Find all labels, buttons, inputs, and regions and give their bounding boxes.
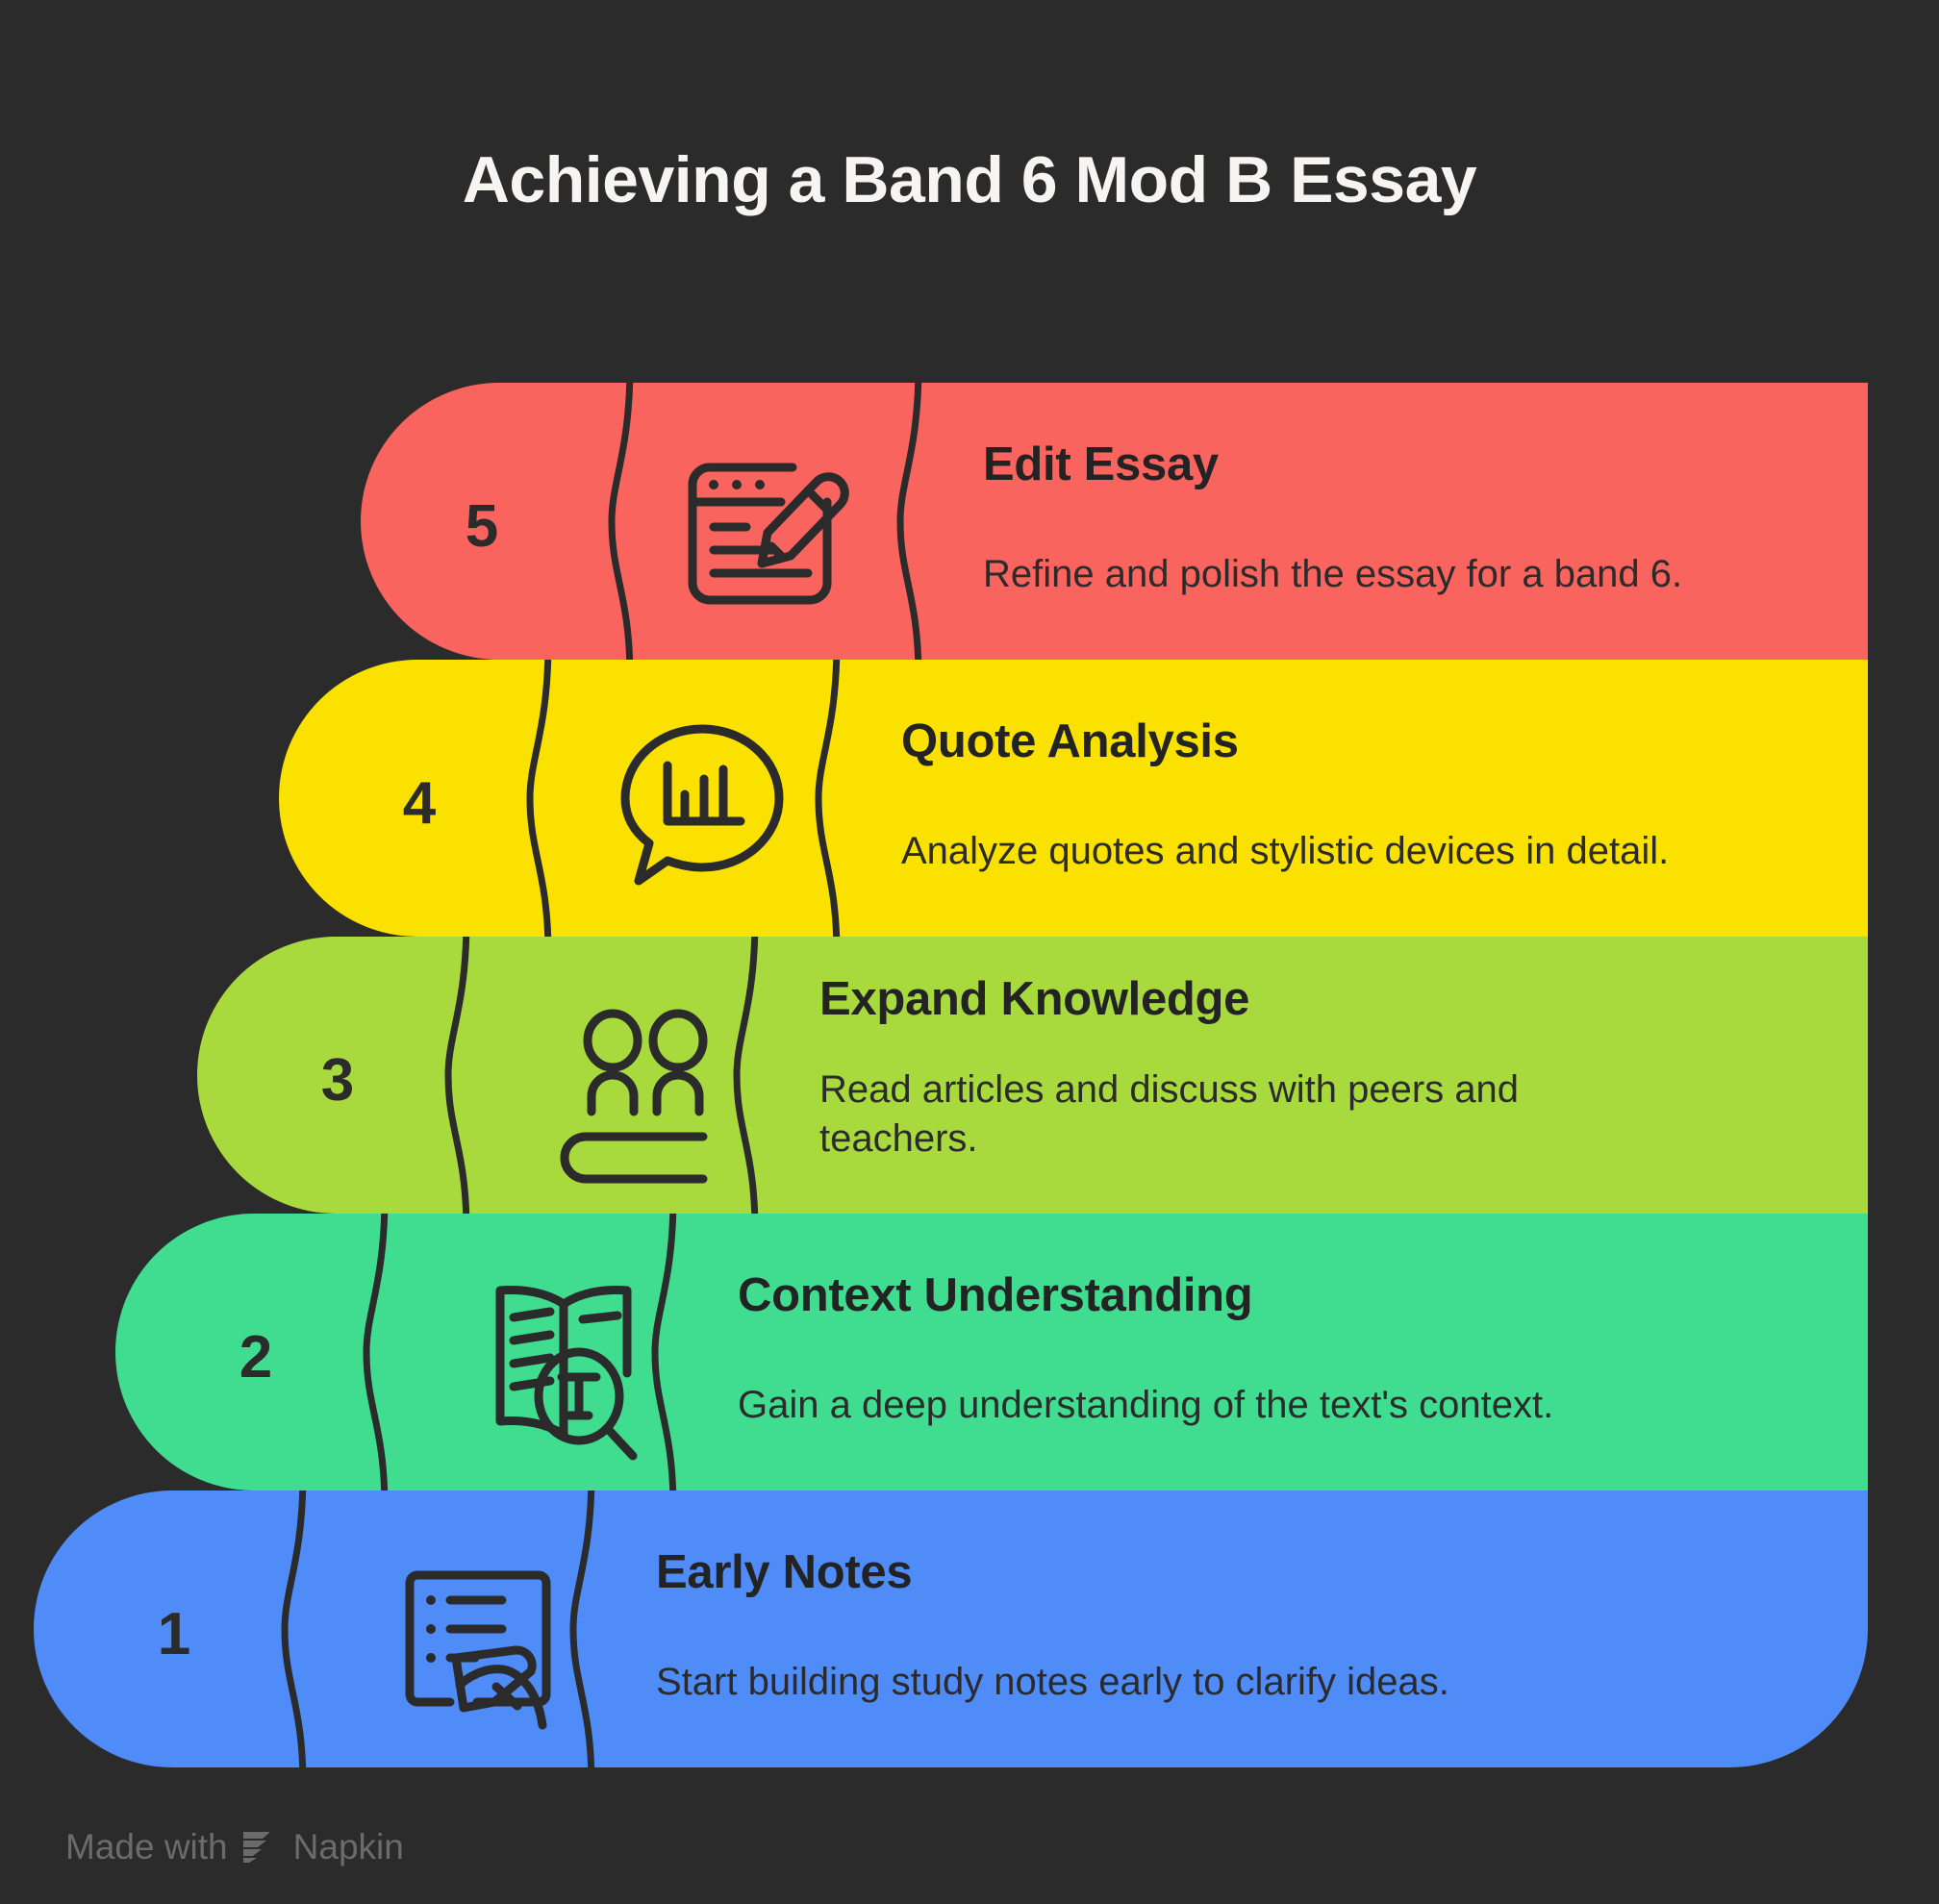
napkin-striped-triangle-logo (241, 1830, 280, 1865)
made-with-napkin-watermark[interactable]: Made with Napkin (65, 1827, 404, 1867)
staircase-diagram (0, 0, 1939, 1904)
step-bar-1[interactable] (34, 1491, 1868, 1767)
infographic-canvas: Achieving a Band 6 Mod B Essay (0, 0, 1939, 1904)
step-bar-5[interactable] (361, 383, 1868, 660)
made-with-label: Made with (65, 1827, 228, 1867)
step-bars (34, 383, 1868, 1767)
brand-label: Napkin (293, 1827, 404, 1867)
step-bar-4[interactable] (279, 660, 1868, 937)
